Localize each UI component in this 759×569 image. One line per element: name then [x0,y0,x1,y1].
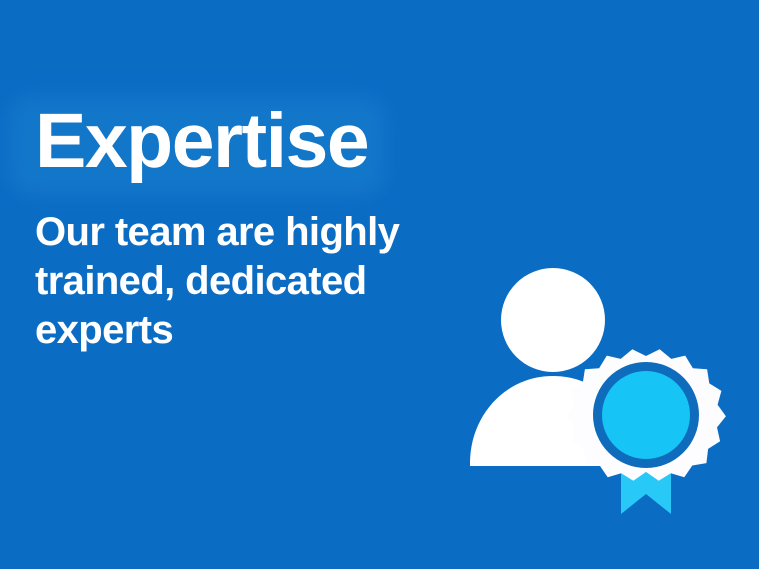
certified-expert-icon [448,248,728,528]
text-block: Expertise Our team are highly trained, d… [35,100,465,355]
page-title: Expertise [35,100,465,182]
slide-canvas: Expertise Our team are highly trained, d… [0,0,759,569]
page-subtitle: Our team are highly trained, dedicated e… [35,208,455,355]
award-badge-icon [566,349,726,481]
